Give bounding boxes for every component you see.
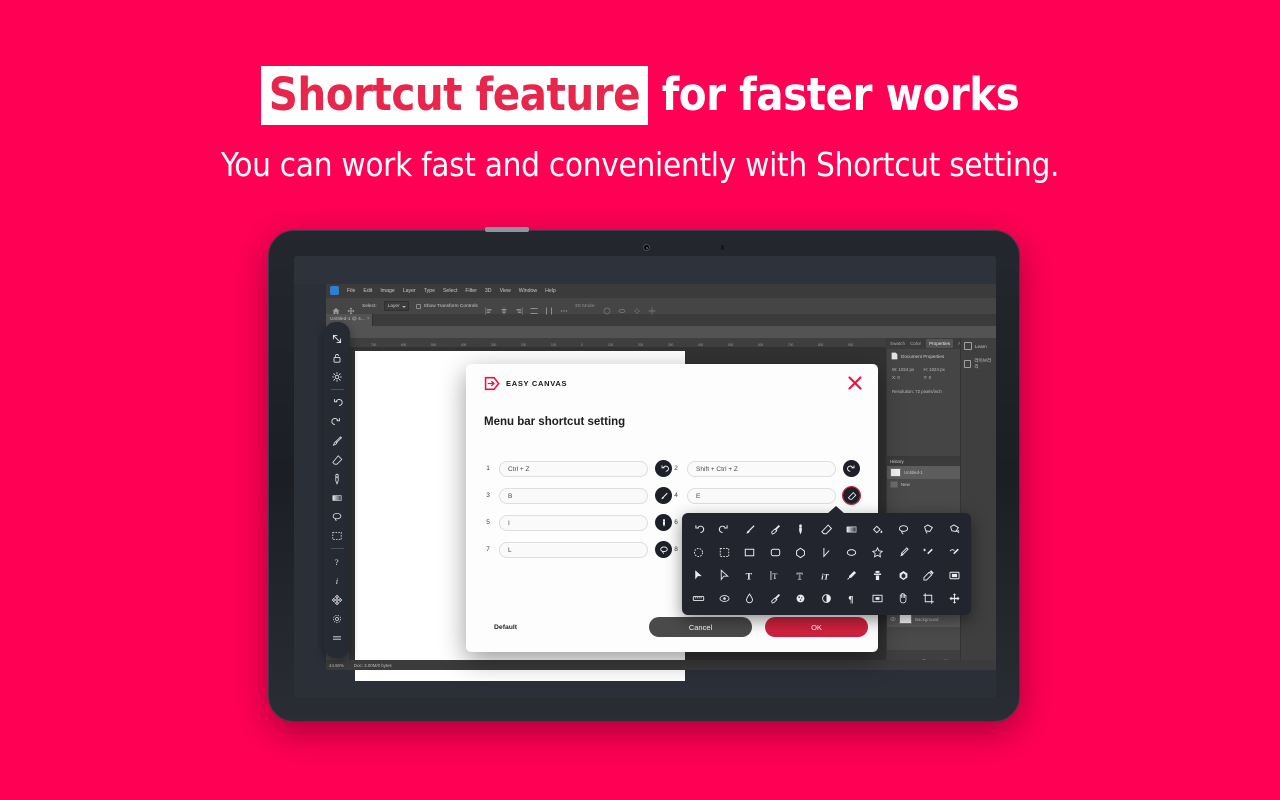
lasso-icon[interactable]: [325, 507, 349, 526]
menu-item-select[interactable]: Select: [443, 288, 457, 294]
dialog-header: EASY CANVAS: [466, 364, 878, 404]
menu-item-filter[interactable]: Filter: [465, 288, 477, 294]
rounded-rect-icon[interactable]: [766, 544, 784, 562]
lasso-icon[interactable]: [894, 521, 912, 539]
eye-icon: [890, 616, 896, 622]
lock-icon[interactable]: [325, 348, 349, 367]
prop-x: X: 0: [892, 374, 924, 382]
lasso-icon[interactable]: [655, 541, 672, 558]
distribute-icon[interactable]: [530, 302, 538, 310]
tablet-device: File Edit Image Layer Type Select Filter…: [268, 230, 1020, 722]
checkbox-icon: [416, 304, 421, 309]
shortcut-cell-7: 7 L: [484, 541, 672, 558]
new-group-icon[interactable]: [932, 652, 938, 658]
shortcut-input[interactable]: L: [499, 542, 648, 558]
ellipse-icon[interactable]: [843, 544, 861, 562]
layer-name: Background: [915, 617, 938, 622]
status-bar: 44.90% Doc: 3.00M/0 bytes: [326, 660, 996, 670]
polygonal-lasso-icon[interactable]: [920, 521, 938, 539]
shortcut-cell-1: 1 Ctrl + Z: [484, 460, 672, 477]
svg-text:T: T: [797, 571, 803, 582]
shortcut-number: 8: [672, 546, 680, 553]
roll-3d-icon[interactable]: [618, 302, 626, 310]
italic-type-icon[interactable]: iT: [817, 567, 835, 585]
eraser-icon[interactable]: [325, 450, 349, 469]
cancel-button[interactable]: Cancel: [649, 617, 752, 637]
layer-style-icon[interactable]: fx: [899, 652, 905, 658]
doc-size: Doc: 3.00M/0 bytes: [354, 663, 392, 668]
palette-row: T T T iT: [686, 564, 967, 587]
palette-row: [686, 518, 967, 541]
gear-icon[interactable]: [325, 367, 349, 386]
healing-brush-icon[interactable]: [894, 567, 912, 585]
vertical-type-icon[interactable]: T: [766, 567, 784, 585]
convert-point-icon[interactable]: [945, 544, 963, 562]
menu-item-3d[interactable]: 3D: [485, 288, 492, 294]
layer-thumbnail: [899, 614, 912, 624]
close-icon[interactable]: [846, 374, 864, 392]
floating-toolbar[interactable]: ? i: [324, 322, 350, 658]
paint-bucket-icon[interactable]: [868, 521, 886, 539]
delete-layer-icon[interactable]: [954, 652, 960, 658]
undo-icon[interactable]: [655, 460, 672, 477]
ruler-icon[interactable]: [690, 590, 708, 608]
path-select-icon[interactable]: [715, 567, 733, 585]
undo-icon[interactable]: [690, 521, 708, 539]
svg-text:T: T: [772, 571, 778, 581]
history-item-label: Untitled-1: [904, 470, 923, 475]
shortcut-cell-2: 2 Shift + Ctrl + Z: [672, 460, 860, 477]
adjustment-layer-icon[interactable]: [921, 652, 927, 658]
headline-rest: for faster works: [648, 68, 1019, 121]
horizontal-ruler: 800700600 500400300 2001000 100200300 40…: [340, 338, 886, 347]
dock-item-learn[interactable]: Learn: [961, 338, 996, 354]
dodge-burn-icon[interactable]: [817, 590, 835, 608]
prop-w: W: 1024 px: [892, 366, 924, 374]
history-thumbnail: [890, 481, 898, 488]
layer-dropdown[interactable]: Layer: [384, 301, 409, 311]
rect-marquee-icon[interactable]: [715, 544, 733, 562]
redo-icon[interactable]: [325, 412, 349, 431]
library-icon: [964, 360, 971, 368]
shortcut-number: 4: [672, 492, 680, 499]
rectangle-icon[interactable]: [741, 544, 759, 562]
pan-3d-icon[interactable]: [633, 302, 641, 310]
menu-item-layer[interactable]: Layer: [403, 288, 416, 294]
tab-swatch[interactable]: Swatch: [890, 341, 905, 346]
divider: [331, 389, 344, 390]
history-thumbnail: [890, 468, 901, 477]
menu-item-file[interactable]: File: [347, 288, 355, 294]
page-title: Shortcut feature for faster works: [0, 68, 1280, 121]
brand-logo: EASY CANVAS: [484, 376, 567, 391]
shortcut-number: 1: [484, 465, 492, 472]
red-eye-icon[interactable]: [715, 590, 733, 608]
svg-text:¶: ¶: [849, 594, 854, 605]
info-icon[interactable]: i: [325, 571, 349, 590]
type-icon[interactable]: T: [741, 567, 759, 585]
default-button[interactable]: Default: [494, 624, 517, 631]
rotate-3d-icon[interactable]: [603, 302, 611, 310]
shortcut-input[interactable]: B: [499, 488, 648, 504]
shortcut-number: 5: [484, 519, 492, 526]
sharpen-icon[interactable]: [766, 590, 784, 608]
prop-h: H: 1024 px: [924, 366, 956, 374]
palette-row: [686, 541, 967, 564]
dock-item-label: Learn: [975, 344, 987, 349]
palette-arrow: [827, 506, 845, 514]
document-properties-header: Document Properties: [887, 349, 960, 363]
svg-text:iT: iT: [821, 571, 829, 581]
menu-item-image[interactable]: Image: [380, 288, 394, 294]
align-left-icon[interactable]: [485, 302, 493, 310]
ellipse-marquee-icon[interactable]: [690, 544, 708, 562]
dock-item-label: 라이브러리: [974, 358, 993, 370]
prop-y: Y: 0: [924, 374, 956, 382]
move-tool-icon[interactable]: [945, 590, 963, 608]
link-layers-icon[interactable]: [888, 652, 894, 658]
auto-select-label: Select:: [362, 304, 377, 309]
history-item[interactable]: New: [887, 479, 960, 490]
crop-icon[interactable]: [920, 590, 938, 608]
type-mask-icon[interactable]: T: [792, 567, 810, 585]
transform-icon[interactable]: [325, 329, 349, 348]
options-bar[interactable]: Select: Layer Show Transform Controls 3D…: [326, 297, 996, 314]
shortcut-number: 3: [484, 492, 492, 499]
blur-icon[interactable]: [741, 590, 759, 608]
app-logo-icon: [330, 286, 339, 295]
svg-text:?: ?: [335, 558, 339, 567]
eyedropper-icon[interactable]: [843, 567, 861, 585]
brush-icon[interactable]: [655, 487, 672, 504]
marquee-icon[interactable]: [325, 526, 349, 545]
shortcut-number: 6: [672, 519, 680, 526]
layer-mask-icon[interactable]: [910, 652, 916, 658]
shortcut-input[interactable]: E: [687, 488, 836, 504]
move-icon[interactable]: [325, 590, 349, 609]
svg-text:T: T: [746, 571, 753, 582]
dialog-title: Menu bar shortcut setting: [484, 416, 625, 428]
redo-icon[interactable]: [843, 460, 860, 477]
history-item[interactable]: Untitled-1: [887, 466, 960, 479]
new-layer-icon[interactable]: [943, 652, 949, 658]
gradient-icon[interactable]: [843, 521, 861, 539]
shortcut-input[interactable]: I: [499, 515, 648, 531]
gradient-icon[interactable]: [325, 488, 349, 507]
ok-button[interactable]: OK: [765, 617, 868, 637]
home-icon[interactable]: [332, 302, 340, 310]
align-right-icon[interactable]: [515, 302, 523, 310]
shortcut-row: 1 Ctrl + Z 2 Shift + Ctrl + Z: [484, 460, 860, 477]
paragraph-icon[interactable]: ¶: [843, 590, 861, 608]
shortcut-input[interactable]: Shift + Ctrl + Z: [687, 461, 836, 477]
move-icon[interactable]: [690, 567, 708, 585]
menu-bar[interactable]: File Edit Image Layer Type Select Filter…: [326, 284, 996, 297]
zoom-level[interactable]: 44.90%: [329, 663, 344, 668]
menu-item-help[interactable]: Help: [545, 288, 556, 294]
eraser-icon[interactable]: [843, 487, 860, 504]
patch-icon[interactable]: [920, 567, 938, 585]
quick-mask-icon[interactable]: [868, 590, 886, 608]
page-subtitle: You can work fast and conveniently with …: [0, 145, 1280, 184]
menu-item-type[interactable]: Type: [424, 288, 435, 294]
document-properties-label: Document Properties: [901, 354, 944, 359]
palette-row: ¶: [686, 587, 967, 610]
align-center-icon[interactable]: [500, 302, 508, 310]
dock-item-libraries[interactable]: 라이브러리: [961, 354, 996, 374]
shortcut-input[interactable]: Ctrl + Z: [499, 461, 648, 477]
slide-3d-icon[interactable]: [648, 302, 656, 310]
line-icon[interactable]: [817, 544, 835, 562]
desktop-background: [294, 256, 996, 284]
shortcut-cell-5: 5 I: [484, 514, 672, 531]
polygon-icon[interactable]: [792, 544, 810, 562]
close-tab-icon[interactable]: ×: [367, 317, 370, 322]
divider: [331, 548, 344, 549]
show-transform-controls-label: Show Transform Controls: [424, 304, 478, 309]
settings-icon[interactable]: [325, 609, 349, 628]
help-icon[interactable]: ?: [325, 552, 349, 571]
front-camera-icon: [643, 244, 650, 251]
pen-icon[interactable]: [894, 544, 912, 562]
shortcut-row: 3 B 4 E: [484, 487, 860, 504]
distribute-vertical-icon[interactable]: [545, 302, 553, 310]
undo-icon[interactable]: [325, 393, 349, 412]
document-icon: [891, 352, 898, 360]
svg-text:i: i: [336, 577, 339, 586]
document-tab-bar[interactable]: Untitled-1 @ 4...×: [326, 314, 996, 326]
lightbulb-icon: [964, 342, 972, 350]
history-panel-title: History: [887, 457, 960, 466]
headline-highlight: Shortcut feature: [261, 66, 648, 125]
add-anchor-icon[interactable]: [920, 544, 938, 562]
artboard-icon[interactable]: [945, 567, 963, 585]
more-options-icon[interactable]: [560, 302, 568, 310]
eyedropper-icon[interactable]: [655, 514, 672, 531]
brush-icon[interactable]: [741, 521, 759, 539]
sponge-icon[interactable]: [792, 590, 810, 608]
sensor-icon: [721, 245, 724, 250]
brand-name: EASY CANVAS: [506, 379, 567, 388]
3d-mode-label: 3D Mode:: [575, 304, 596, 309]
menu-item-view[interactable]: View: [500, 288, 511, 294]
custom-shape-icon[interactable]: [868, 544, 886, 562]
redo-icon[interactable]: [715, 521, 733, 539]
shortcut-cell-3: 3 B: [484, 487, 672, 504]
easy-canvas-logo-icon: [484, 376, 501, 391]
mixer-brush-icon[interactable]: [766, 521, 784, 539]
menu-item-window[interactable]: Window: [519, 288, 537, 294]
panel-tabs[interactable]: Swatch Color Properties Adjuste: [887, 338, 960, 349]
eyedropper-icon[interactable]: [325, 469, 349, 488]
menu-icon[interactable]: [325, 628, 349, 647]
show-transform-controls-checkbox[interactable]: Show Transform Controls: [416, 304, 478, 309]
brush-icon[interactable]: [325, 431, 349, 450]
layers-panel-footer[interactable]: fx: [887, 650, 960, 660]
document-properties-values: W: 1024 pxH: 1024 px X: 0Y: 0 Resolution…: [887, 363, 960, 399]
shortcut-number: 7: [484, 546, 492, 553]
prop-resolution: Resolution: 72 pixels/inch: [892, 388, 955, 396]
magnetic-lasso-icon[interactable]: [945, 521, 963, 539]
clone-stamp-icon[interactable]: [868, 567, 886, 585]
hand-icon[interactable]: [894, 590, 912, 608]
eraser-icon[interactable]: [817, 521, 835, 539]
photoshop-app: File Edit Image Layer Type Select Filter…: [294, 256, 996, 698]
tablet-power-button[interactable]: [485, 227, 529, 232]
tab-properties[interactable]: Properties: [926, 339, 953, 348]
history-item-label: New: [901, 482, 910, 487]
menu-item-edit[interactable]: Edit: [363, 288, 372, 294]
tab-color[interactable]: Color: [910, 341, 921, 346]
tablet-screen: File Edit Image Layer Type Select Filter…: [294, 256, 996, 698]
shortcut-number: 2: [672, 465, 680, 472]
pencil-icon[interactable]: [792, 521, 810, 539]
icon-palette-popup[interactable]: T T T iT ¶: [682, 513, 971, 615]
shortcut-cell-4: 4 E: [672, 487, 860, 504]
move-tool-icon[interactable]: [347, 302, 355, 310]
